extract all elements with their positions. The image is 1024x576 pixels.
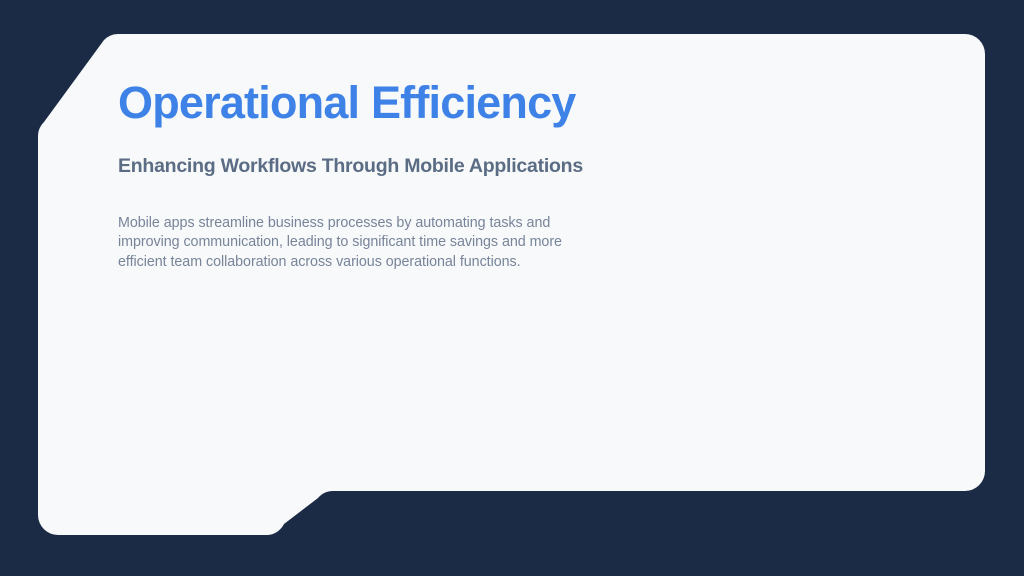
card-content: Operational Efficiency Enhancing Workflo… xyxy=(118,78,758,272)
page-subtitle: Enhancing Workflows Through Mobile Appli… xyxy=(118,128,758,178)
body-paragraph: Mobile apps streamline business processe… xyxy=(118,179,604,273)
page-title: Operational Efficiency xyxy=(118,78,758,128)
slide: Operational Efficiency Enhancing Workflo… xyxy=(0,0,1024,576)
